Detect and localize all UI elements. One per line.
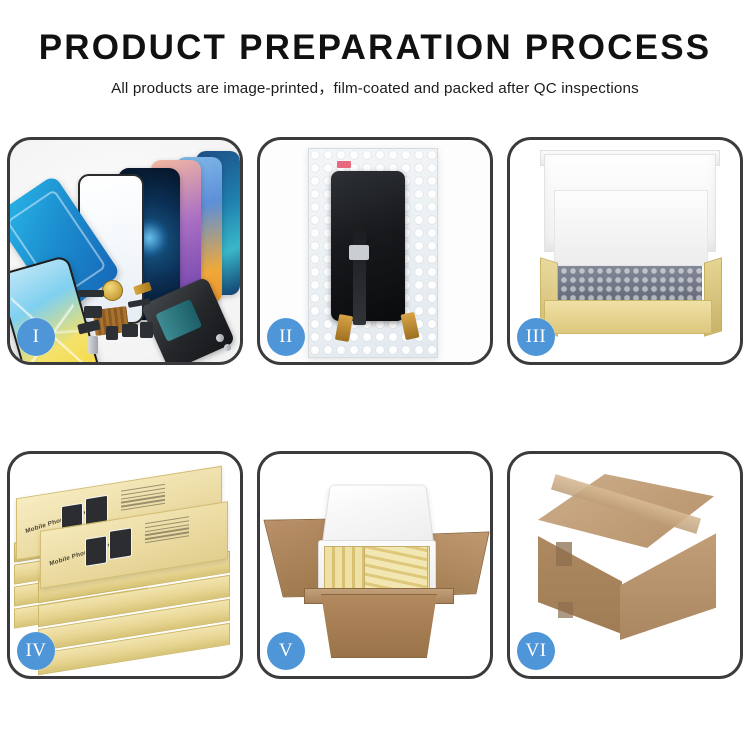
box-artwork-thumb-icon bbox=[85, 535, 107, 566]
white-foam-sheet-icon bbox=[554, 190, 708, 266]
process-step-card-2[interactable]: II bbox=[257, 137, 493, 365]
gold-contact-tab-icon bbox=[335, 314, 353, 342]
vibrator-part-icon bbox=[140, 322, 153, 338]
box-spec-lines-icon bbox=[145, 516, 189, 546]
gold-tray-front-icon bbox=[544, 300, 712, 334]
step-badge-2: II bbox=[267, 318, 305, 356]
step-badge-3: III bbox=[517, 318, 555, 356]
step-badge-1: I bbox=[17, 318, 55, 356]
button-part-icon bbox=[106, 326, 118, 340]
process-step-card-5[interactable]: V bbox=[257, 451, 493, 679]
process-step-card-1[interactable]: I bbox=[7, 137, 243, 365]
carton-tab-icon bbox=[558, 602, 573, 618]
camera-part-icon bbox=[122, 324, 138, 337]
header: PRODUCT PREPARATION PROCESS All products… bbox=[0, 0, 750, 98]
carton-front-icon bbox=[316, 594, 442, 658]
round-camera-part-icon bbox=[102, 280, 123, 301]
step-badge-6: VI bbox=[517, 632, 555, 670]
gold-boxes-inside-icon bbox=[364, 546, 428, 592]
styrofoam-lid-icon bbox=[322, 485, 435, 547]
speaker-part-icon bbox=[84, 306, 102, 318]
step-badge-5: V bbox=[267, 632, 305, 670]
page-subtitle: All products are image-printed，film-coat… bbox=[0, 67, 750, 98]
process-step-card-4[interactable]: Mobile Phone Spare Parts Mobile Phone Sp… bbox=[7, 451, 243, 679]
product-preparation-infographic: PRODUCT PREPARATION PROCESS All products… bbox=[0, 0, 750, 750]
process-step-card-3[interactable]: III bbox=[507, 137, 743, 365]
carton-tab-icon bbox=[556, 542, 572, 566]
process-step-card-6[interactable]: VI bbox=[507, 451, 743, 679]
screw-icon bbox=[216, 334, 224, 342]
flex-cable-icon bbox=[353, 229, 366, 325]
spare-part-icon bbox=[78, 290, 104, 297]
box-artwork-thumb-icon bbox=[109, 527, 132, 560]
qc-sticker-icon bbox=[337, 161, 351, 168]
connector-icon bbox=[349, 245, 369, 260]
sim-tray-icon bbox=[88, 336, 98, 354]
gold-contact-tab-icon bbox=[400, 312, 419, 340]
screw-icon bbox=[224, 344, 231, 351]
process-step-grid: I II bbox=[7, 137, 743, 679]
box-spec-lines-icon bbox=[121, 484, 165, 514]
step-badge-4: IV bbox=[17, 632, 55, 670]
bubble-wrap-bag-icon bbox=[308, 148, 438, 358]
page-title: PRODUCT PREPARATION PROCESS bbox=[0, 0, 750, 67]
